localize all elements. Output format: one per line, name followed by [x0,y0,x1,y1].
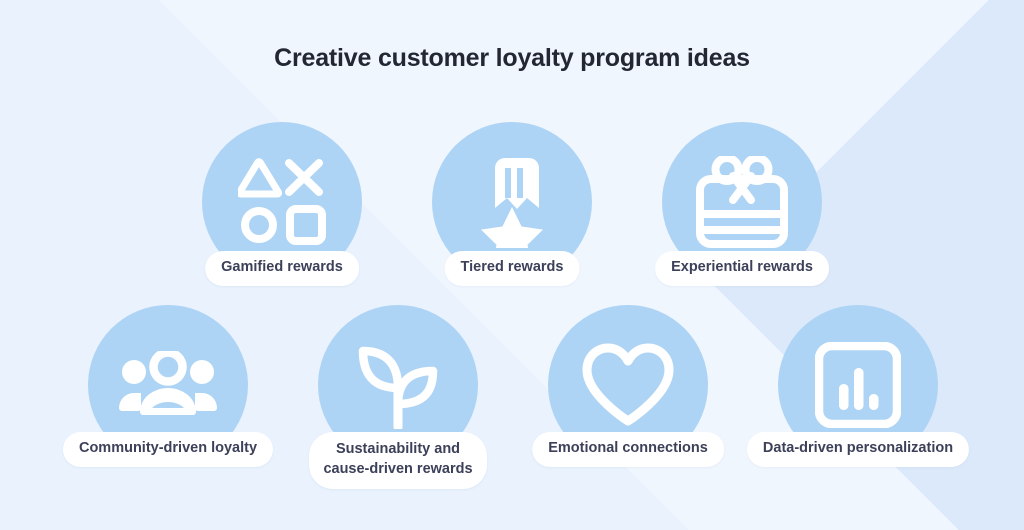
medal-icon [473,156,551,248]
bar-chart-icon [815,342,901,428]
sprout-icon [355,341,441,429]
idea-item-sustainability-rewards[interactable]: Sustainability and cause-driven rewards [318,305,478,465]
gift-icon [695,156,789,248]
game-shapes-icon [238,158,326,246]
idea-item-tiered-rewards[interactable]: Tiered rewards [432,122,592,282]
idea-label-line1: Sustainability and [336,441,460,457]
idea-item-experiential-rewards[interactable]: Experiential rewards [662,122,822,282]
infographic-canvas: Creative customer loyalty program ideas … [0,0,1024,530]
heart-icon [581,343,675,427]
idea-label: Community-driven loyalty [63,432,273,467]
people-group-icon [118,351,218,419]
idea-label: Tiered rewards [445,251,580,286]
idea-label-line2: cause-driven rewards [323,461,472,477]
idea-label: Gamified rewards [205,251,359,286]
idea-item-community-driven-loyalty[interactable]: Community-driven loyalty [88,305,248,465]
idea-item-gamified-rewards[interactable]: Gamified rewards [202,122,362,282]
idea-label: Experiential rewards [655,251,829,286]
idea-item-emotional-connections[interactable]: Emotional connections [548,305,708,465]
idea-label: Emotional connections [532,432,724,467]
idea-grid: Gamified rewards Tiered rewards [0,0,1024,530]
idea-label: Sustainability and cause-driven rewards [309,432,487,489]
idea-label: Data-driven personalization [747,432,969,467]
idea-item-data-driven-personalization[interactable]: Data-driven personalization [778,305,938,465]
